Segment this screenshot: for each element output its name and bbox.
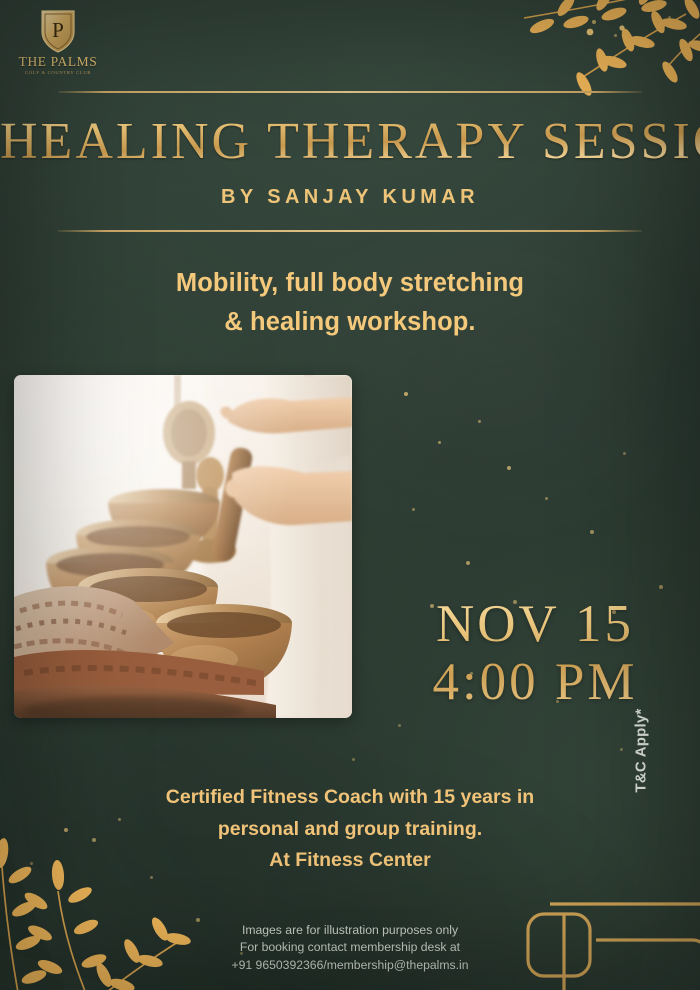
promotional-poster: P THE PALMS GOLF & COUNTRY CLUB HEALING … bbox=[0, 0, 700, 990]
poster-vignette bbox=[0, 0, 700, 990]
